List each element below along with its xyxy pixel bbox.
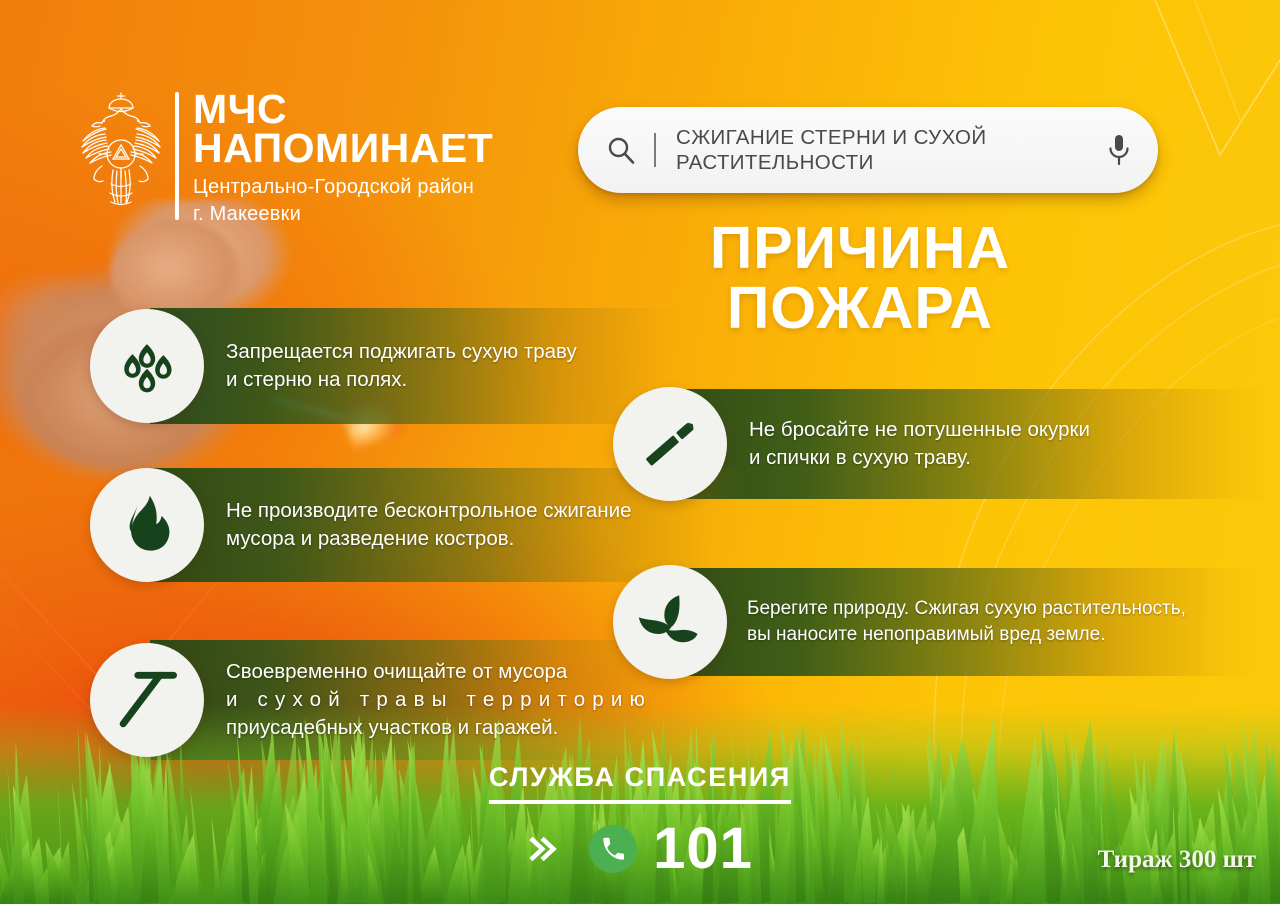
search-query-line1: СЖИГАНИЕ СТЕРНИ И СУХОЙ [676, 125, 1096, 150]
tip-icon-cigarette [613, 387, 727, 501]
flame-icon [119, 493, 175, 557]
tip-text-block: Не производите бесконтрольное сжигание м… [198, 497, 631, 553]
tip-text-line2: вы наносите непоправимый вред земле. [747, 622, 1186, 648]
microphone-icon[interactable] [1106, 133, 1132, 167]
tip-icon-flame [90, 468, 204, 582]
tip-text-line3: приусадебных участков и гаражей. [226, 714, 652, 742]
rescue-service-title: СЛУЖБА СПАСЕНИЯ [489, 762, 791, 804]
footer: СЛУЖБА СПАСЕНИЯ 101 [0, 762, 1280, 878]
page-title: ПРИЧИНА ПОЖАРА [640, 218, 1080, 338]
logo-divider [175, 92, 179, 220]
tip-row: Запрещается поджигать сухую траву и стер… [90, 308, 690, 424]
tip-text-line2: и спички в сухую траву. [749, 444, 1090, 472]
search-input[interactable]: СЖИГАНИЕ СТЕРНИ И СУХОЙ РАСТИТЕЛЬНОСТИ [676, 125, 1096, 175]
search-bar[interactable]: СЖИГАНИЕ СТЕРНИ И СУХОЙ РАСТИТЕЛЬНОСТИ [578, 107, 1158, 193]
tip-icon-four-flames [90, 309, 204, 423]
search-divider [654, 133, 656, 167]
tip-text-line1: Запрещается поджигать сухую траву [226, 338, 577, 366]
logo-title-line1: МЧС [193, 90, 493, 129]
tip-text-line2: мусора и разведение костров. [226, 525, 631, 553]
tip-text-block: Не бросайте не потушенные окурки и спичк… [721, 416, 1090, 472]
tip-text-line1: Не бросайте не потушенные окурки [749, 416, 1090, 444]
tip-text-line2: и стерню на полях. [226, 366, 577, 394]
emergency-phone-row: 101 [0, 820, 1280, 878]
tip-text-line1: Не производите бесконтрольное сжигание [226, 497, 631, 525]
tip-text-line2: и сухой травы территорию [226, 686, 652, 714]
headline-line1: ПРИЧИНА [640, 218, 1080, 278]
tip-row: Берегите природу. Сжигая сухую раститель… [613, 568, 1258, 676]
print-run-label: Тираж 300 шт [1098, 846, 1256, 874]
tip-text-line1: Своевременно очищайте от мусора [226, 658, 652, 686]
tip-icon-leaves [613, 565, 727, 679]
tip-row: Не бросайте не потушенные окурки и спичк… [613, 389, 1268, 499]
cigarette-icon [638, 412, 702, 476]
emergency-phone-number: 101 [653, 820, 753, 878]
poster-canvas: МЧС НАПОМИНАЕТ Центрально-Городской райо… [0, 0, 1280, 904]
tip-icon-rake [90, 643, 204, 757]
logo-subtitle-district: Центрально-Городской район [193, 176, 493, 199]
four-flames-icon [114, 336, 180, 396]
logo-subtitle-city: г. Макеевки [193, 203, 493, 226]
leaves-icon [637, 593, 703, 651]
phone-handset-icon [600, 836, 627, 863]
double-headed-eagle-emblem-icon [75, 88, 167, 220]
mchs-logo-block: МЧС НАПОМИНАЕТ Центрально-Городской райо… [75, 88, 493, 226]
tip-text-block: Своевременно очищайте от мусора и сухой … [198, 658, 652, 742]
tip-text-block: Запрещается поджигать сухую траву и стер… [198, 338, 577, 394]
tip-text-line1: Берегите природу. Сжигая сухую раститель… [747, 596, 1186, 622]
tip-text-block: Берегите природу. Сжигая сухую раститель… [721, 596, 1186, 648]
search-query-line2: РАСТИТЕЛЬНОСТИ [676, 150, 1096, 175]
rake-icon [114, 667, 180, 733]
phone-icon-circle [589, 825, 637, 873]
magnifier-icon[interactable] [606, 135, 636, 165]
logo-title-line2: НАПОМИНАЕТ [193, 129, 493, 168]
headline-line2: ПОЖАРА [640, 278, 1080, 338]
double-chevron-right-icon [527, 826, 573, 872]
